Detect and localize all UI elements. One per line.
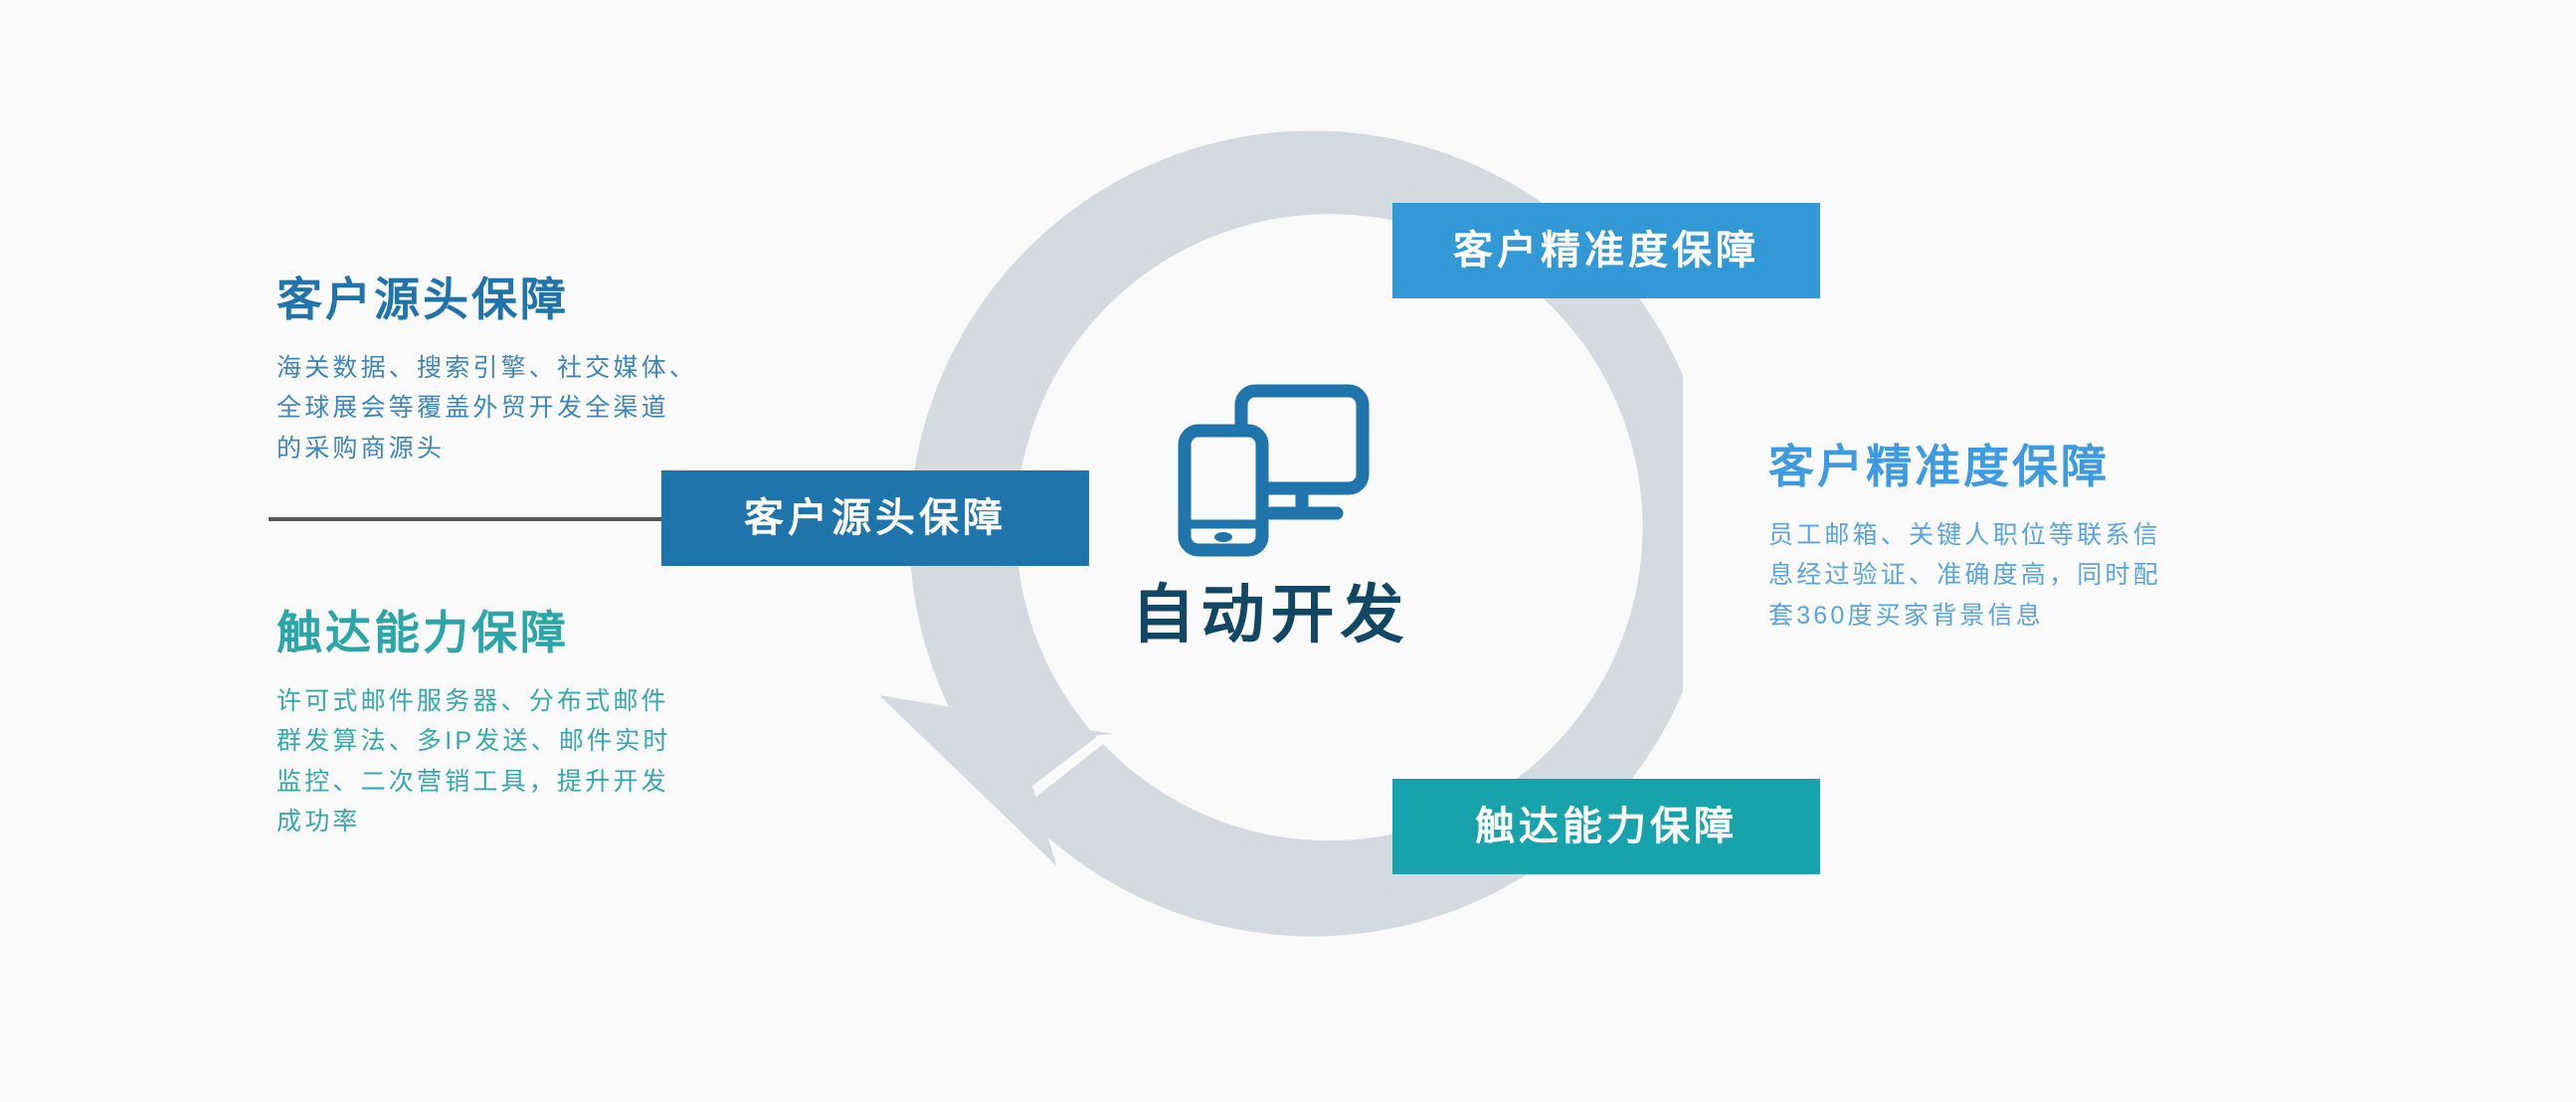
badge-reach-capability[interactable]: 触达能力保障 bbox=[1392, 779, 1820, 874]
block-title: 客户精准度保障 bbox=[1768, 441, 2325, 493]
block-body-line: 许可式邮件服务器、分布式邮件 bbox=[276, 681, 833, 722]
badge-label: 触达能力保障 bbox=[1475, 807, 1738, 846]
devices-monitor-phone-icon bbox=[1172, 383, 1371, 557]
block-body-line: 成功率 bbox=[276, 802, 833, 842]
block-body-line: 套360度买家背景信息 bbox=[1768, 596, 2325, 637]
block-body-line: 监控、二次营销工具，提升开发 bbox=[276, 762, 833, 803]
connector-line bbox=[269, 517, 662, 521]
block-body: 海关数据、搜索引擎、社交媒体、 全球展会等覆盖外贸开发全渠道 的采购商源头 bbox=[276, 348, 833, 469]
text-block-customer-source: 客户源头保障 海关数据、搜索引擎、社交媒体、 全球展会等覆盖外贸开发全渠道 的采… bbox=[276, 274, 833, 468]
badge-customer-accuracy[interactable]: 客户精准度保障 bbox=[1392, 203, 1820, 298]
block-body-line: 群发算法、多IP发送、邮件实时 bbox=[276, 721, 833, 762]
badge-label: 客户源头保障 bbox=[744, 498, 1007, 538]
badge-customer-source[interactable]: 客户源头保障 bbox=[661, 470, 1089, 566]
block-body: 许可式邮件服务器、分布式邮件 群发算法、多IP发送、邮件实时 监控、二次营销工具… bbox=[276, 681, 833, 842]
block-body-line: 息经过验证、准确度高，同时配 bbox=[1768, 555, 2325, 596]
block-body-line: 海关数据、搜索引擎、社交媒体、 bbox=[276, 348, 833, 389]
text-block-reach-capability: 触达能力保障 许可式邮件服务器、分布式邮件 群发算法、多IP发送、邮件实时 监控… bbox=[276, 607, 833, 842]
block-body-line: 的采购商源头 bbox=[276, 429, 833, 469]
center-cluster: 自动开发 bbox=[1099, 383, 1442, 646]
badge-label: 客户精准度保障 bbox=[1453, 231, 1759, 271]
center-label: 自动开发 bbox=[1099, 583, 1442, 646]
block-body-line: 员工邮箱、关键人职位等联系信 bbox=[1768, 515, 2325, 556]
block-title: 触达能力保障 bbox=[276, 607, 833, 659]
infographic-canvas: 自动开发 客户源头保障 客户精准度保障 触达能力保障 客户源头保障 海关数据、搜… bbox=[0, 0, 2576, 1102]
text-block-customer-accuracy: 客户精准度保障 员工邮箱、关键人职位等联系信 息经过验证、准确度高，同时配 套3… bbox=[1768, 441, 2325, 636]
block-body-line: 全球展会等覆盖外贸开发全渠道 bbox=[276, 388, 833, 429]
block-body: 员工邮箱、关键人职位等联系信 息经过验证、准确度高，同时配 套360度买家背景信… bbox=[1768, 515, 2325, 637]
block-title: 客户源头保障 bbox=[276, 274, 833, 326]
